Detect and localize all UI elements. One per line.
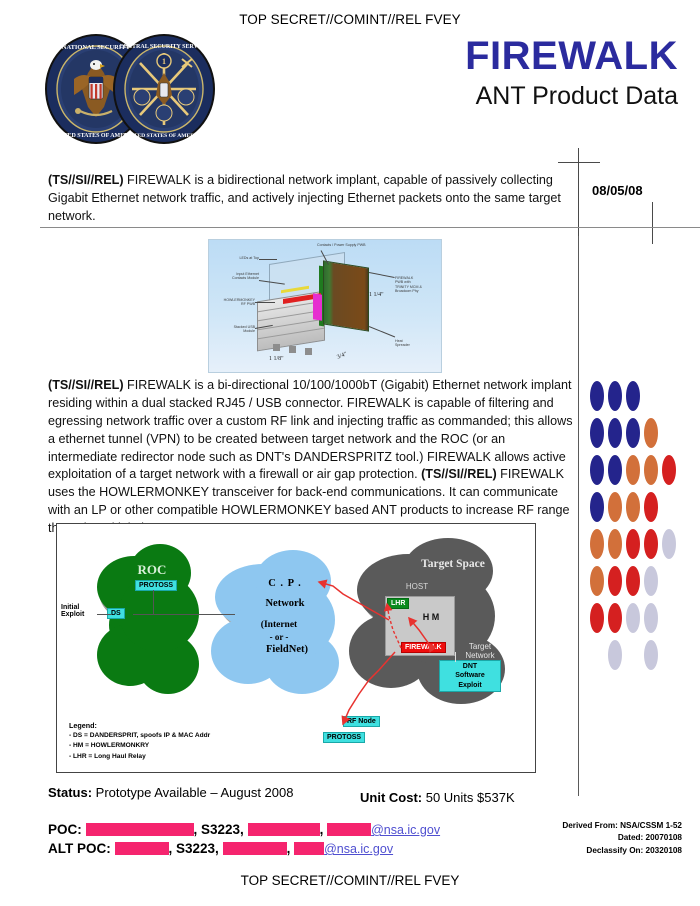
- oval-red: [626, 566, 640, 596]
- cp-line-1: C . P .: [233, 578, 337, 589]
- margin-rule-upper: [578, 148, 579, 236]
- firewalk-tag: FIREWALK: [401, 642, 446, 653]
- oval-orange: [644, 455, 658, 485]
- intro-marking: (TS//SI//REL): [48, 173, 124, 187]
- target-space-label: Target Space: [393, 558, 513, 570]
- oval-navy: [590, 492, 604, 522]
- redaction-bar: [86, 823, 194, 836]
- classification-banner-bottom: TOP SECRET//COMINT//REL FVEY: [0, 873, 700, 888]
- oval-navy: [626, 381, 640, 411]
- device-firewalk-pwb: [323, 260, 369, 331]
- cost-value: 50 Units $537K: [422, 790, 515, 805]
- css-seal: 1 CENTRAL SECURITY SERVICE UNITED STATES…: [112, 33, 216, 145]
- poc-block: POC: , S3223, , @nsa.ic.gov ALT POC: , S…: [48, 820, 440, 858]
- detail-text-1: FIREWALK is a bi-directional 10/100/1000…: [48, 378, 573, 481]
- status-label: Status:: [48, 785, 92, 800]
- derived-from: Derived From: NSA/CSSM 1-52: [492, 820, 682, 832]
- status-value: Prototype Available – August 2008: [92, 785, 293, 800]
- intro-text: FIREWALK is a bidirectional network impl…: [48, 173, 561, 223]
- oval-navy: [590, 418, 604, 448]
- oval-navy: [608, 455, 622, 485]
- document-date: 08/05/08: [592, 183, 643, 198]
- label-firewalk-pwb: FIREWALK PWB with TRINITY MCM & Broadcom…: [395, 276, 441, 294]
- hm-label: H M: [409, 612, 453, 622]
- oval-orange: [590, 529, 604, 559]
- oval-red: [608, 566, 622, 596]
- legend-item: - DS = DANDERSPRIT, spoofs IP & MAC Addr: [69, 731, 210, 741]
- redaction-bar: [115, 842, 169, 855]
- section-divider: [40, 227, 700, 228]
- oval-red: [626, 529, 640, 559]
- oval-orange: [608, 529, 622, 559]
- detail-marking-2: (TS//SI//REL): [421, 467, 497, 481]
- detail-paragraphs: (TS//SI//REL) FIREWALK is a bi-direction…: [48, 377, 573, 538]
- svg-text:1: 1: [162, 57, 166, 66]
- cost-label: Unit Cost:: [360, 790, 422, 805]
- cp-line-5: FieldNet): [235, 644, 339, 655]
- oval-orange: [626, 455, 640, 485]
- page-title: FIREWALK: [465, 36, 678, 77]
- legend-item: - HM = HOWLERMONKRY: [69, 741, 210, 751]
- margin-rule-lower: [578, 236, 579, 796]
- dnt-exploit-tag: DNT Software Exploit: [439, 660, 501, 692]
- initial-exploit-label: Initial Exploit: [61, 604, 101, 618]
- label-input-ethernet: Input Ethernet Contacts Module: [211, 272, 259, 281]
- oval-navy: [590, 455, 604, 485]
- page-subtitle: ANT Product Data: [465, 83, 678, 109]
- host-label: HOST: [387, 582, 447, 591]
- redaction-bar: [223, 842, 287, 855]
- redaction-bar: [294, 842, 324, 855]
- oval-lavender: [662, 529, 676, 559]
- lhr-tag: LHR: [387, 598, 409, 609]
- intro-paragraph: (TS//SI//REL) FIREWALK is a bidirectiona…: [48, 172, 568, 226]
- device-magenta-component: [313, 293, 322, 320]
- oval-orange: [644, 418, 658, 448]
- label-howlermonkey: HOWLERMONKEY RF PWB: [209, 298, 255, 307]
- device-pin-2: [289, 346, 296, 353]
- status-line: Status: Prototype Available – August 200…: [48, 785, 293, 800]
- unit-cost-line: Unit Cost: 50 Units $537K: [360, 790, 515, 805]
- oval-lavender: [608, 640, 622, 670]
- alt-poc-email-link[interactable]: @nsa.ic.gov: [324, 842, 393, 856]
- label-contacts-psu: Contacts / Power Supply PWB: [317, 243, 387, 247]
- poc-org: , S3223,: [194, 822, 244, 837]
- alt-poc-org: , S3223,: [169, 841, 219, 856]
- alt-poc-label: ALT POC:: [48, 841, 111, 856]
- oval-orange: [608, 492, 622, 522]
- network-diagram: ROC C . P . Network (Internet - or - Fie…: [56, 523, 536, 773]
- hardware-figure: LEDs at Top Input Ethernet Contacts Modu…: [208, 239, 442, 373]
- document-title-block: FIREWALK ANT Product Data: [465, 36, 678, 109]
- oval-navy: [626, 418, 640, 448]
- diagram-legend: Legend: - DS = DANDERSPRIT, spoofs IP & …: [69, 720, 210, 762]
- oval-lavender: [644, 603, 658, 633]
- poc-row: POC: , S3223, , @nsa.ic.gov: [48, 820, 440, 839]
- roc-label: ROC: [117, 562, 187, 578]
- derived-from-block: Derived From: NSA/CSSM 1-52 Dated: 20070…: [492, 820, 682, 857]
- oval-red: [608, 603, 622, 633]
- rf-node-tag: RF Node: [343, 716, 380, 727]
- oval-lavender: [644, 640, 658, 670]
- alt-poc-row: ALT POC: , S3223, , @nsa.ic.gov: [48, 839, 440, 858]
- oval-orange: [626, 492, 640, 522]
- cp-line-4: - or -: [227, 632, 331, 642]
- label-stacked-usb: Stacked USB Module: [215, 325, 255, 334]
- oval-matrix-graphic: [590, 381, 695, 671]
- oval-red: [662, 455, 676, 485]
- oval-navy: [590, 381, 604, 411]
- crop-mark-right: [652, 202, 653, 244]
- poc-label: POC:: [48, 822, 82, 837]
- cp-line-3: (Internet: [227, 620, 331, 630]
- protoss-roc-tag: PROTOSS: [135, 580, 177, 591]
- oval-red: [590, 603, 604, 633]
- target-network-label: Target Network: [455, 642, 505, 660]
- oval-red: [644, 492, 658, 522]
- oval-red: [644, 529, 658, 559]
- label-leds: LEDs at Top: [219, 256, 259, 260]
- legend-heading: Legend:: [69, 720, 210, 731]
- protoss-rf-tag: PROTOSS: [323, 732, 365, 743]
- poc-email-link[interactable]: @nsa.ic.gov: [371, 823, 440, 837]
- oval-navy: [608, 381, 622, 411]
- dimension-width: 1 1/8": [269, 356, 284, 362]
- legend-item: - LHR = Long Haul Relay: [69, 752, 210, 762]
- declassify-on: Declassify On: 20320108: [492, 845, 682, 857]
- detail-marking-1: (TS//SI//REL): [48, 378, 124, 392]
- redaction-bar: [327, 823, 371, 836]
- cp-line-2: Network: [233, 598, 337, 609]
- device-pin-1: [273, 344, 280, 351]
- oval-navy: [608, 418, 622, 448]
- oval-orange: [590, 566, 604, 596]
- oval-lavender: [626, 603, 640, 633]
- classification-banner-top: TOP SECRET//COMINT//REL FVEY: [0, 12, 700, 27]
- crop-mark-top: [558, 162, 600, 163]
- oval-lavender: [644, 566, 658, 596]
- device-pin-3: [305, 348, 312, 355]
- svg-text:CENTRAL SECURITY SERVICE: CENTRAL SECURITY SERVICE: [119, 44, 208, 50]
- agency-seals: NATIONAL SECURITY UNITED STATES OF AMERI…: [44, 33, 224, 145]
- svg-text:UNITED STATES OF AMERICA: UNITED STATES OF AMERICA: [123, 133, 204, 139]
- dimension-depth: 3/4": [336, 351, 348, 360]
- dimension-height: 1 1/4": [369, 292, 384, 298]
- redaction-bar: [248, 823, 320, 836]
- label-heat-spreader: Heat Spreader: [395, 339, 435, 348]
- dated: Dated: 20070108: [492, 832, 682, 844]
- document-page: TOP SECRET//COMINT//REL FVEY: [0, 0, 700, 906]
